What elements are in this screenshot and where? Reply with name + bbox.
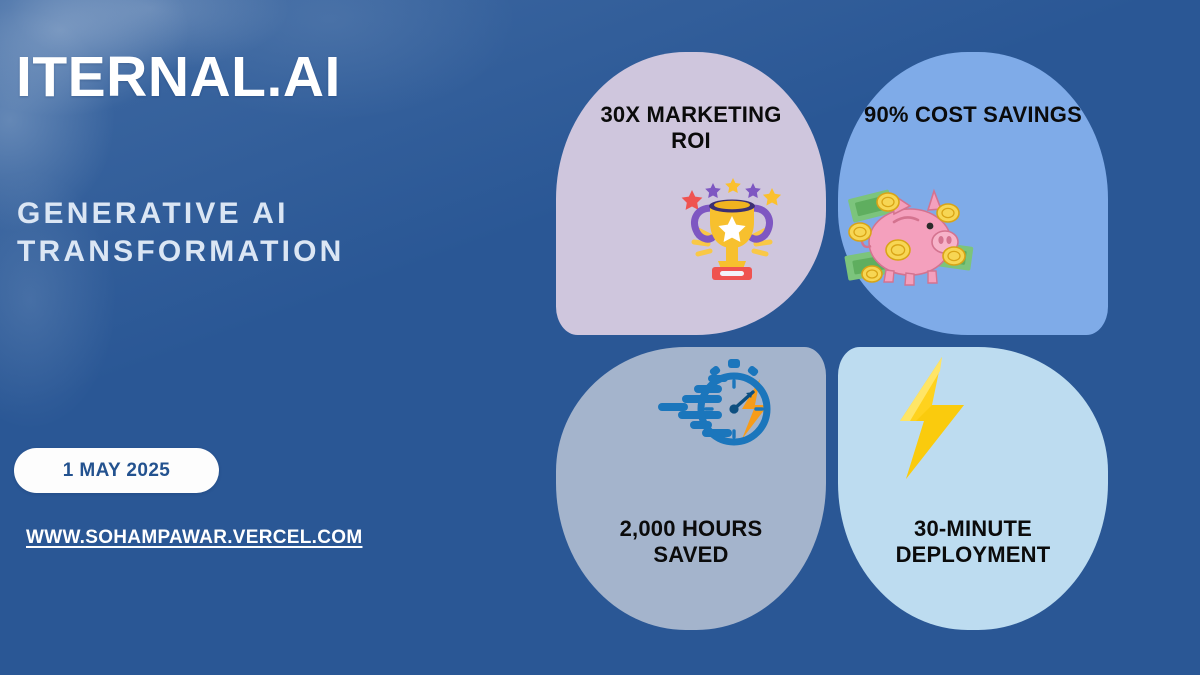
date-badge-label: 1 MAY 2025 <box>63 460 171 482</box>
metric-label-marketing-roi: 30X MARKETING ROI <box>581 102 801 154</box>
piggy-bank-icon <box>844 180 974 298</box>
metric-petal-hours-saved[interactable]: 2,000 HOURS SAVED <box>556 347 826 630</box>
slide-subtitle: GENERATIVE AI TRANSFORMATION <box>17 195 437 272</box>
metrics-clover: 30X MARKETING ROI <box>556 52 1108 630</box>
trophy-icon <box>676 168 788 280</box>
presentation-slide: ITERNAL.AI GENERATIVE AI TRANSFORMATION … <box>0 0 1200 675</box>
metric-label-deployment-time: 30-MINUTE DEPLOYMENT <box>863 516 1083 568</box>
metric-petal-cost-savings[interactable]: 90% COST SAVINGS <box>838 52 1108 335</box>
metric-label-cost-savings: 90% COST SAVINGS <box>863 102 1083 128</box>
date-badge: 1 MAY 2025 <box>14 448 219 493</box>
website-url-link[interactable]: WWW.SOHAMPAWAR.VERCEL.COM <box>26 527 362 549</box>
title-column: ITERNAL.AI GENERATIVE AI TRANSFORMATION … <box>0 0 560 675</box>
metric-petal-marketing-roi[interactable]: 30X MARKETING ROI <box>556 52 826 335</box>
fast-stopwatch-icon <box>652 357 792 457</box>
metric-label-hours-saved: 2,000 HOURS SAVED <box>581 516 801 568</box>
metric-petal-deployment-time[interactable]: 30-MINUTE DEPLOYMENT <box>838 347 1108 630</box>
lightning-bolt-icon <box>880 353 980 483</box>
brand-title: ITERNAL.AI <box>16 48 341 108</box>
